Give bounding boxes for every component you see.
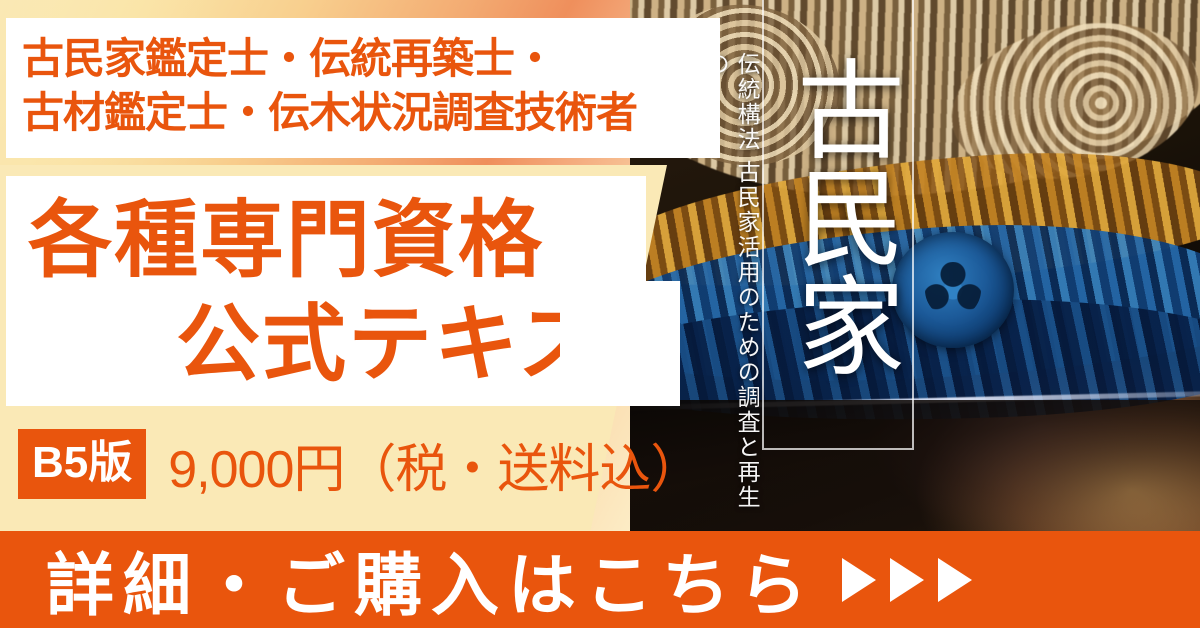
chevron-right-icon xyxy=(842,558,876,602)
headline-line-2: 公式テキスト xyxy=(6,292,646,396)
qualifications-block: 古民家鑑定士・伝統再築士・ 古材鑑定士・伝木状況調査技術者 xyxy=(6,18,720,158)
price-amount: 9,000円（税・送料込） xyxy=(168,427,701,502)
chevron-right-icon xyxy=(938,558,972,602)
qualifications-line-1: 古民家鑑定士・伝統再築士・ xyxy=(6,18,720,86)
promo-banner: 古民家 伝統構法 古民家活用のための調査と再生の 古民家鑑定士・伝統再築士・ 古… xyxy=(0,0,1200,628)
chevron-right-icon xyxy=(890,558,924,602)
format-badge: B5版 xyxy=(18,429,146,499)
cta-arrows xyxy=(842,558,972,602)
price-row: B5版 9,000円（税・送料込） xyxy=(18,428,701,500)
cta-label: 詳細・ご購入はこちら xyxy=(46,530,816,628)
headline-line-1: 各種専門資格 xyxy=(6,176,646,292)
headline-block: 各種専門資格 公式テキスト xyxy=(6,176,646,406)
cta-bar[interactable]: 詳細・ご購入はこちら xyxy=(0,531,1200,628)
headline-block-notch xyxy=(560,281,680,406)
qualifications-line-2: 古材鑑定士・伝木状況調査技術者 xyxy=(6,86,720,140)
book-cover-title: 古民家 xyxy=(772,6,904,426)
